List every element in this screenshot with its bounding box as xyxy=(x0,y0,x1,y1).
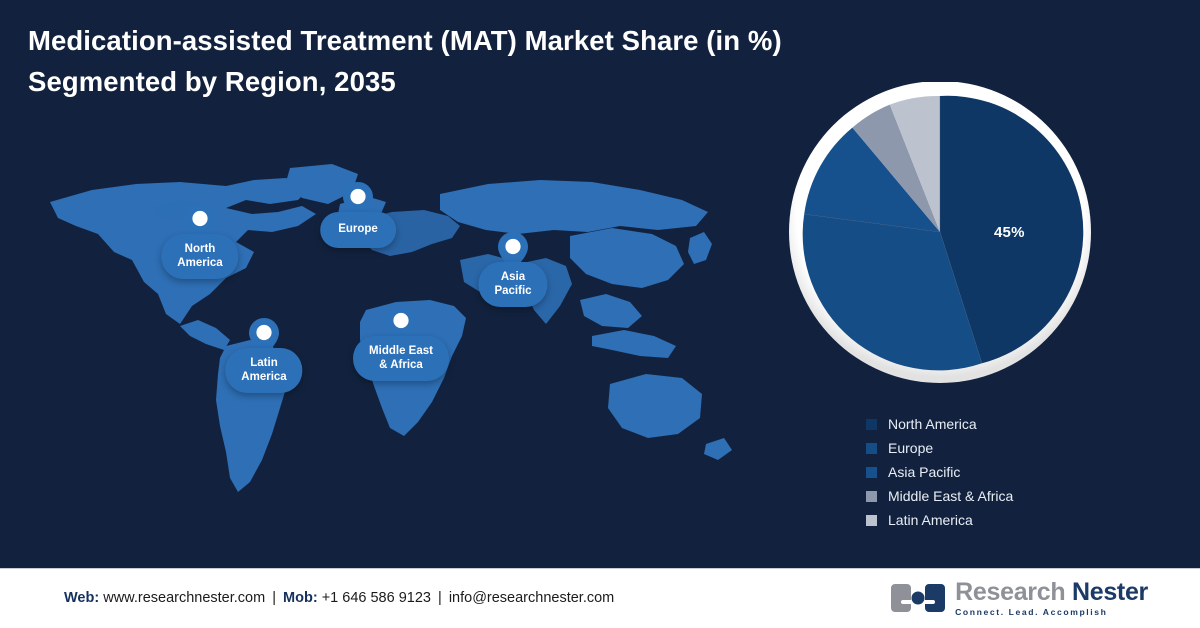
footer-web-value[interactable]: www.researchnester.com xyxy=(103,590,265,606)
map-marker-label: Latin America xyxy=(225,348,302,393)
footer-email-value[interactable]: info@researchnester.com xyxy=(449,590,614,606)
pie-slices xyxy=(803,96,1084,371)
pie-chart: 45% xyxy=(762,82,1118,392)
chart-legend: North America Europe Asia Pacific Middle… xyxy=(866,412,1013,532)
footer-bar: Web: www.researchnester.com | Mob: +1 64… xyxy=(0,568,1200,628)
legend-label: Middle East & Africa xyxy=(888,489,1013,503)
pie-data-label-north-america: 45% xyxy=(994,224,1025,241)
map-marker-label-line1: Middle East xyxy=(369,345,433,359)
logo-word-research: Research xyxy=(955,578,1065,606)
legend-label: Latin America xyxy=(888,513,973,527)
legend-swatch-icon xyxy=(866,419,877,430)
logo-name-line: Research Nester xyxy=(955,579,1148,605)
logo-tagline: Connect. Lead. Accomplish xyxy=(955,607,1148,617)
footer-mob-label: Mob: xyxy=(283,590,318,606)
legend-item-north-america[interactable]: North America xyxy=(866,412,1013,436)
legend-swatch-icon xyxy=(866,515,877,526)
legend-label: Europe xyxy=(888,441,933,455)
map-marker-label-line1: Asia xyxy=(494,271,531,285)
footer-web-label: Web: xyxy=(64,590,99,606)
world-map: North America Europe Asia Pacific xyxy=(40,160,740,500)
legend-item-latin-america[interactable]: Latin America xyxy=(866,508,1013,532)
legend-swatch-icon xyxy=(866,467,877,478)
map-marker-label-line1: Latin xyxy=(241,357,286,371)
map-marker-label-line2: America xyxy=(177,257,222,271)
map-marker-label-line2: & Africa xyxy=(369,359,433,373)
footer-contact-line: Web: www.researchnester.com | Mob: +1 64… xyxy=(64,590,614,606)
map-marker-label: Middle East & Africa xyxy=(353,336,449,381)
map-marker-label-line1: Europe xyxy=(338,223,378,237)
legend-swatch-icon xyxy=(866,491,877,502)
infographic-root: Medication-assisted Treatment (MAT) Mark… xyxy=(0,0,1200,628)
map-marker-label: Europe xyxy=(320,212,396,248)
chain-link-icon xyxy=(890,581,946,615)
map-marker-label: North America xyxy=(161,234,238,279)
map-marker-label-line1: North xyxy=(177,243,222,257)
footer-divider xyxy=(0,568,1200,569)
logo-wordmark: Research Nester Connect. Lead. Accomplis… xyxy=(955,579,1148,617)
pie-chart-svg xyxy=(762,82,1118,392)
map-marker-label: Asia Pacific xyxy=(478,262,547,307)
map-marker-label-line2: Pacific xyxy=(494,285,531,299)
legend-label: Asia Pacific xyxy=(888,465,960,479)
research-nester-logo[interactable]: Research Nester Connect. Lead. Accomplis… xyxy=(890,579,1148,617)
footer-separator-2: | xyxy=(435,590,445,606)
legend-item-middle-east-africa[interactable]: Middle East & Africa xyxy=(866,484,1013,508)
legend-item-asia-pacific[interactable]: Asia Pacific xyxy=(866,460,1013,484)
footer-mob-value[interactable]: +1 646 586 9123 xyxy=(322,590,431,606)
map-marker-label-line2: America xyxy=(241,371,286,385)
logo-word-nester: Nester xyxy=(1072,578,1148,606)
legend-label: North America xyxy=(888,417,977,431)
title-line-1: Medication-assisted Treatment (MAT) Mark… xyxy=(28,20,948,61)
legend-swatch-icon xyxy=(866,443,877,454)
footer-separator-1: | xyxy=(269,590,279,606)
legend-item-europe[interactable]: Europe xyxy=(866,436,1013,460)
